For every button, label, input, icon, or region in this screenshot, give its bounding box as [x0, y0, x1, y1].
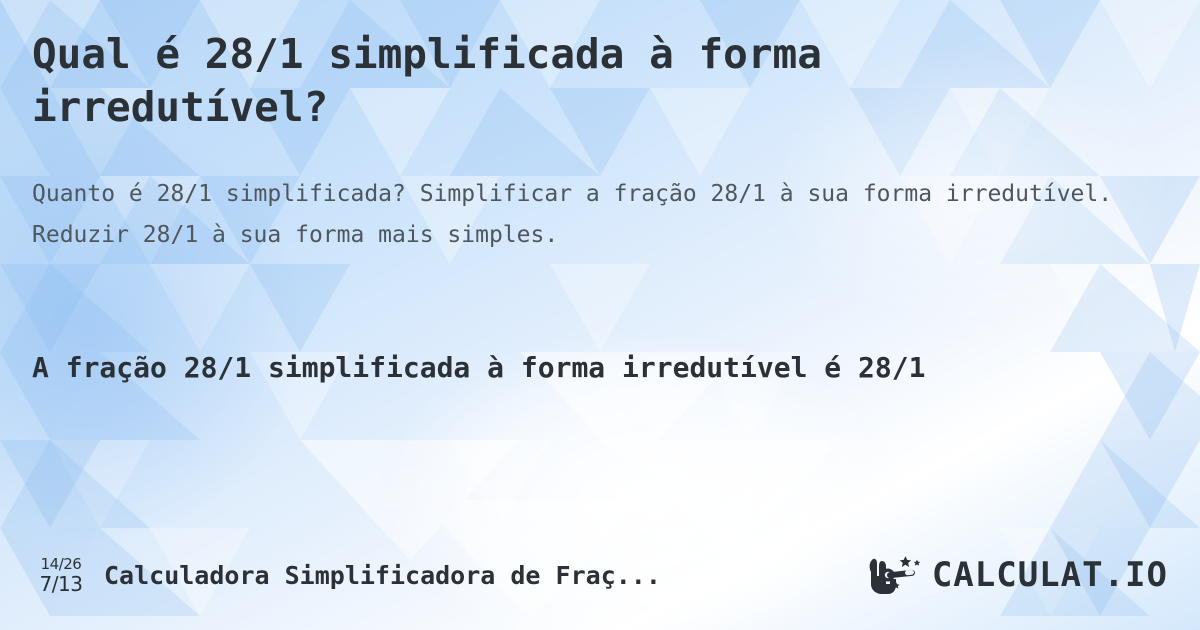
footer: 14/26 7/13 Calculadora Simplificadora de… [0, 545, 1200, 605]
brand-logo[interactable]: CALCULAT.IO [868, 554, 1168, 596]
fraction-icon-top: 14/26 [41, 557, 82, 572]
page-title: Qual é 28/1 simplificada à forma irredut… [32, 28, 1032, 134]
card-content: Qual é 28/1 simplificada à forma irredut… [0, 0, 1200, 630]
fraction-reduce-icon: 14/26 7/13 [32, 557, 90, 594]
page-description: Quanto é 28/1 simplificada? Simplificar … [32, 174, 1172, 256]
og-card: Qual é 28/1 simplificada à forma irredut… [0, 0, 1200, 630]
site-name: Calculadora Simplificadora de Fraç... [104, 561, 868, 590]
hand-magic-wand-icon [868, 554, 926, 596]
fraction-icon-bottom: 7/13 [40, 574, 83, 594]
answer-statement: A fração 28/1 simplificada à forma irred… [32, 345, 1172, 390]
brand-wordmark: CALCULAT.IO [932, 558, 1168, 592]
